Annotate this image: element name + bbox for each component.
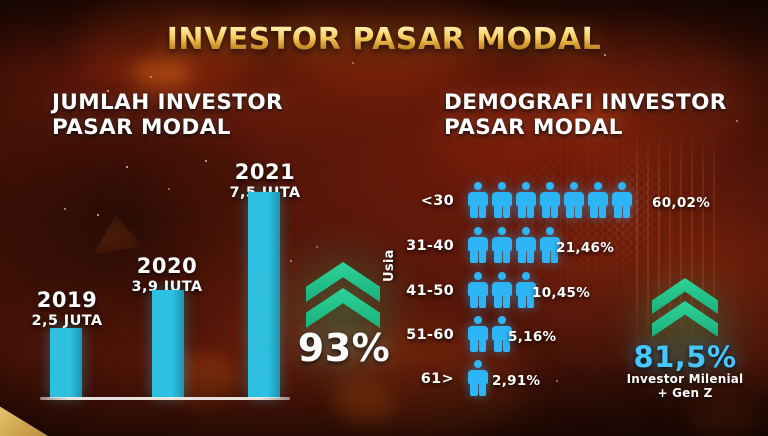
bar-year-2020: 2020 (108, 254, 226, 278)
age-label-41-50: 41-50 (380, 283, 454, 299)
bar-label-2019: 2019 2,5 JUTA (12, 288, 122, 329)
bar-2021[interactable] (248, 192, 280, 398)
highlight-subtitle-line2: + Gen Z (612, 386, 758, 400)
person-icon-group-51-60 (468, 316, 512, 352)
bar-year-2021: 2021 (206, 160, 324, 184)
person-icon (492, 227, 512, 263)
person-icon (468, 182, 488, 218)
highlight-percentage: 81,5% (618, 340, 752, 374)
demography-row[interactable]: <30 60,02% (380, 182, 768, 226)
person-icon (516, 182, 536, 218)
age-label-61plus: 61> (380, 371, 454, 387)
person-icon-group-61plus (468, 360, 488, 396)
bar-chart: 2019 2,5 JUTA 2020 3,9 JUTA 2021 7,5 JUT… (0, 0, 330, 436)
bar-2019[interactable] (50, 328, 82, 398)
highlight-subtitle: Investor Milenial + Gen Z (612, 372, 758, 400)
bar-value-2019: 2,5 JUTA (12, 313, 122, 329)
person-icon (612, 182, 632, 218)
person-icon (492, 182, 512, 218)
person-icon (468, 272, 488, 308)
percentage-41-50: 10,45% (532, 285, 590, 301)
infographic-stage: INVESTOR PASAR MODAL JUMLAH INVESTOR PAS… (0, 0, 768, 436)
chart-baseline (40, 397, 290, 400)
percentage-51-60: 5,16% (508, 329, 556, 345)
percentage-31-40: 21,46% (556, 240, 614, 256)
person-icon (540, 182, 560, 218)
person-icon (516, 227, 536, 263)
age-label-lt30: <30 (380, 193, 454, 209)
person-icon-group-31-40 (468, 227, 560, 263)
person-icon (468, 360, 488, 396)
person-icon-group-41-50 (468, 272, 536, 308)
percentage-lt30: 60,02% (652, 195, 710, 211)
person-icon (468, 316, 488, 352)
highlight-subtitle-line1: Investor Milenial (612, 372, 758, 386)
person-icon (468, 227, 488, 263)
highlight-arrow-icon (652, 278, 718, 336)
age-label-51-60: 51-60 (380, 327, 454, 343)
bar-year-2019: 2019 (12, 288, 122, 312)
age-label-31-40: 31-40 (380, 238, 454, 254)
person-icon (588, 182, 608, 218)
growth-arrow-icon (306, 262, 380, 328)
demography-row[interactable]: 31-40 21,46% (380, 227, 768, 271)
person-icon (492, 272, 512, 308)
bar-2020[interactable] (152, 290, 184, 398)
person-icon-group-lt30 (468, 182, 632, 218)
percentage-61plus: 2,91% (492, 373, 540, 389)
person-icon (564, 182, 584, 218)
bar-label-2020: 2020 3,9 JUTA (108, 254, 226, 295)
